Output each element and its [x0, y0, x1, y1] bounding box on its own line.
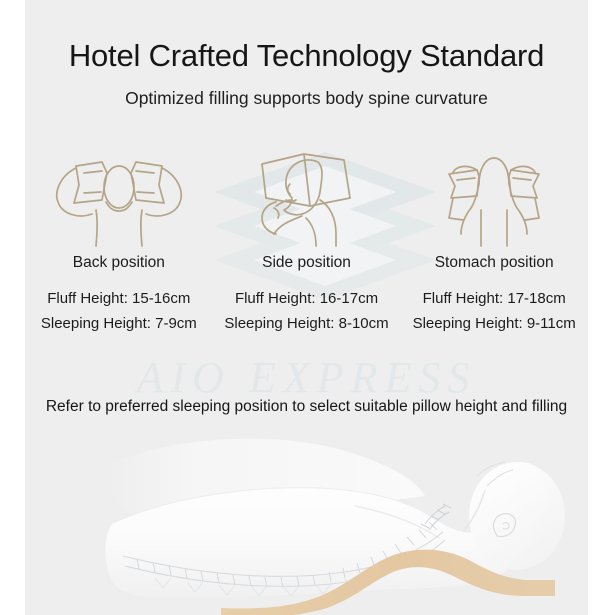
fluff-height-value: Fluff Height: 16-17cm: [235, 288, 378, 309]
sleeping-height-value: Sleeping Height: 8-10cm: [224, 313, 388, 334]
person-lying-on-stomach-icon: [419, 140, 569, 248]
position-name: Back position: [73, 254, 165, 272]
position-column-side: Side position Fluff Height: 16-17cm Slee…: [213, 140, 401, 340]
person-sleeping-on-side-icon: [232, 140, 382, 248]
brand-watermark: AIO EXPRESS: [25, 352, 588, 403]
position-column-stomach: Stomach position Fluff Height: 17-18cm S…: [400, 140, 588, 340]
position-name: Stomach position: [435, 254, 554, 272]
content-panel: Hotel Crafted Technology Standard Optimi…: [25, 0, 588, 615]
sleeping-positions-row: Back position Fluff Height: 15-16cm Slee…: [25, 140, 588, 340]
instruction-caption: Refer to preferred sleeping position to …: [25, 398, 588, 416]
position-name: Side position: [262, 254, 351, 272]
sleeping-height-value: Sleeping Height: 9-11cm: [413, 313, 576, 334]
page-subtitle: Optimized filling supports body spine cu…: [25, 88, 588, 109]
sleeping-height-value: Sleeping Height: 7-9cm: [41, 313, 197, 334]
spine-support-illustration: [25, 420, 588, 615]
page-title: Hotel Crafted Technology Standard: [25, 38, 588, 74]
fluff-height-value: Fluff Height: 17-18cm: [423, 288, 566, 309]
position-column-back: Back position Fluff Height: 15-16cm Slee…: [25, 140, 213, 340]
fluff-height-value: Fluff Height: 15-16cm: [47, 288, 190, 309]
person-lying-on-back-icon: [44, 140, 194, 248]
product-infographic: Hotel Crafted Technology Standard Optimi…: [0, 0, 615, 615]
